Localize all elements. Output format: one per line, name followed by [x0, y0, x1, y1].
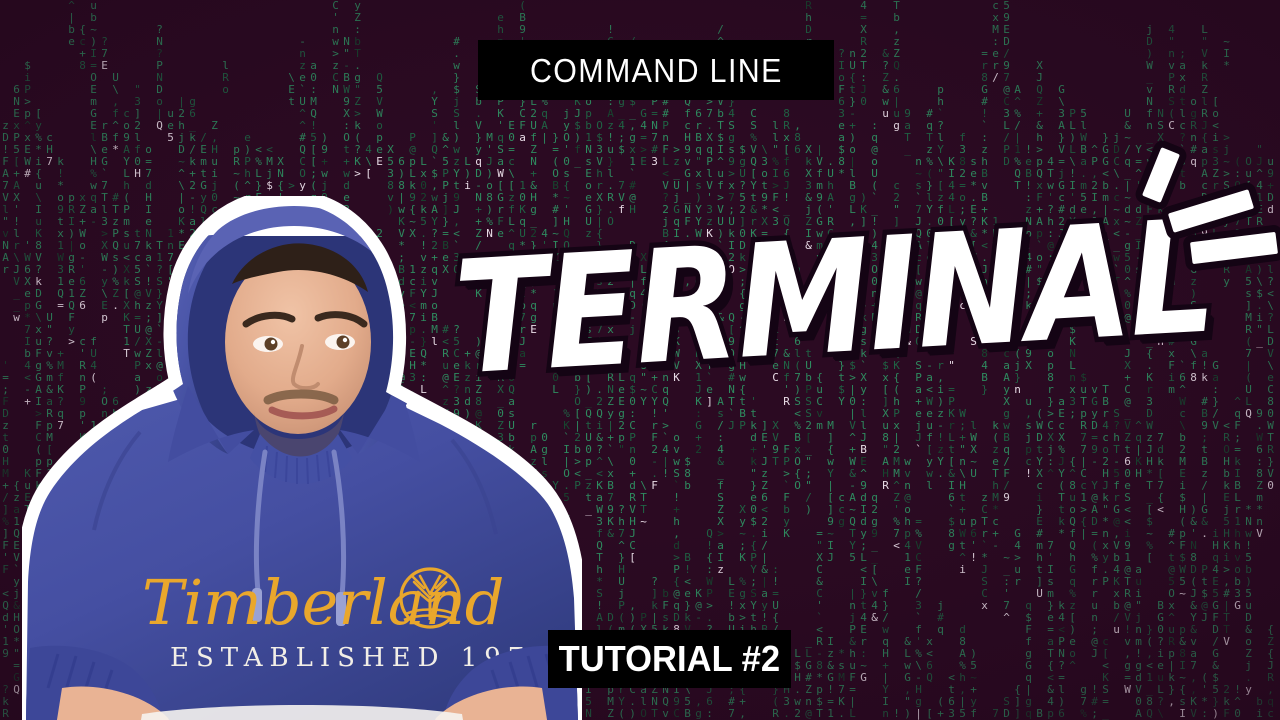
matrix-column: u9+Dd `l?<\?LDV\eC80WTR}V0 {Z{JR,qc [1265, 0, 1276, 720]
command-line-badge[interactable]: COMMAND LINE [478, 40, 834, 100]
matrix-column: Ou[0>T5(#A5s]MR(7|(ULQ *Nw!5b)5uD&oZj.y [1243, 0, 1254, 720]
tutorial-label: TUTORIAL #2 [559, 641, 780, 677]
thumbnail-canvas: zD!FA7Vl"vNAr '=;FDzt0HM+/]%]F'F <Qd'19 … [0, 0, 1280, 720]
matrix-column: "J^41ER@7d)\$.i"_ 9.W6:8Zm*nV bi [1254, 0, 1265, 720]
matrix-column: zD!FA7Vl"vNAr '=;FDzt0HM+/]%]F'F <Qd'19 … [0, 0, 11, 720]
command-line-label: COMMAND LINE [530, 54, 783, 87]
matrix-column: ~I* >j~>Ss=yqoURy <ROHbkEj5HKi>,#|TTV 2k… [1221, 0, 1232, 720]
hero-title-label: TERMINAL [451, 196, 1153, 397]
hero-title: TERMINAL [452, 209, 1139, 387]
tutorial-badge[interactable]: TUTORIAL #2 [548, 630, 791, 688]
matrix-column: (:Q+U79 ^qF;=kIBLr1hhvob3G !^0 [1232, 0, 1243, 720]
sparkle-mark-1 [1133, 138, 1189, 212]
hoodie-brand: Timberland ESTABLISHED 1973 [142, 566, 555, 673]
matrix-column: 6NExP5[+AX'!lr\JV__w {za1QEV`yj&HO*"=GQ [11, 0, 22, 720]
sparkle-burst-icon [1140, 138, 1270, 256]
